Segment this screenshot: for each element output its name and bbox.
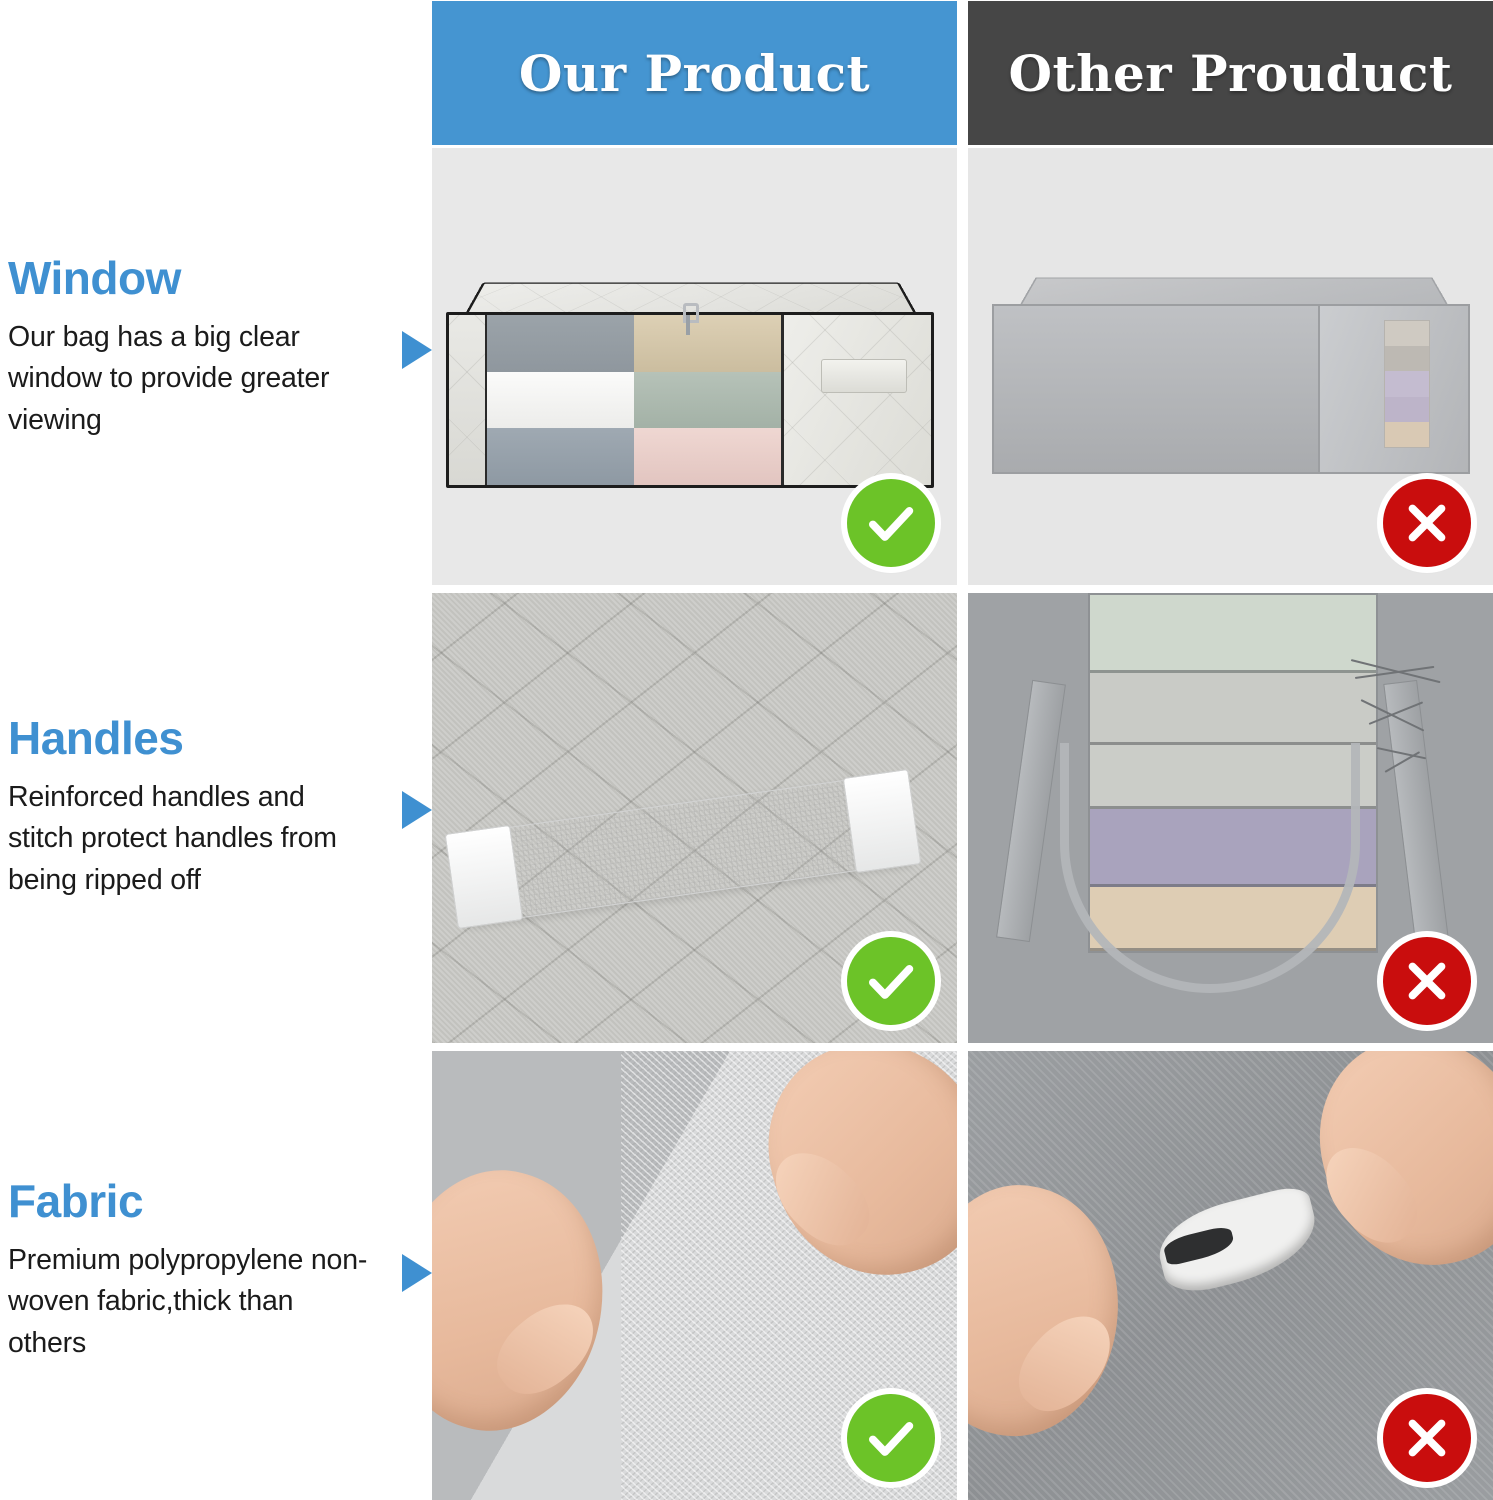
column-header-our-product-label: Our Product [519,44,870,103]
small-window-strip [1384,320,1430,448]
play-triangle-icon [402,1254,432,1292]
feature-title-fabric: Fabric [8,1178,370,1224]
webbing-handle-strap [454,772,912,926]
image-other-handles [968,593,1493,1043]
handle-strap-left [996,680,1066,942]
column-header-other-product-label: Other Prouduct [1008,44,1452,103]
comparison-infographic: Window Our bag has a big clear window to… [0,0,1493,1500]
image-our-handles [432,593,957,1043]
image-other-window [968,148,1493,585]
play-triangle-icon [402,331,432,369]
cross-circle-icon [1383,937,1471,1025]
feature-title-window: Window [8,255,370,301]
column-header-other-product: Other Prouduct [968,1,1493,145]
feature-block-window: Window Our bag has a big clear window to… [8,255,432,441]
image-other-fabric [968,1051,1493,1500]
column-header-our-product: Our Product [432,1,957,145]
feature-list: Window Our bag has a big clear window to… [0,0,432,1500]
feature-block-fabric: Fabric Premium polypropylene non-woven f… [8,1178,432,1364]
frayed-threads [1351,651,1471,801]
cross-circle-icon [1383,1394,1471,1482]
feature-block-handles: Handles Reinforced handles and stitch pr… [8,715,432,901]
feature-description-fabric: Premium polypropylene non-woven fabric,t… [8,1240,370,1364]
cross-circle-icon [1383,479,1471,567]
image-our-window [432,148,957,585]
check-circle-icon [847,479,935,567]
zipper-pull-icon [680,303,696,337]
image-our-fabric [432,1051,957,1500]
detached-handle-loop [1060,743,1360,993]
check-circle-icon [847,937,935,1025]
feature-description-window: Our bag has a big clear window to provid… [8,317,370,441]
feature-description-handles: Reinforced handles and stitch protect ha… [8,777,370,901]
feature-title-handles: Handles [8,715,370,761]
check-circle-icon [847,1394,935,1482]
comparison-grid: Our Product Other Prouduct [432,0,1493,1500]
play-triangle-icon [402,791,432,829]
side-handle [821,359,907,393]
